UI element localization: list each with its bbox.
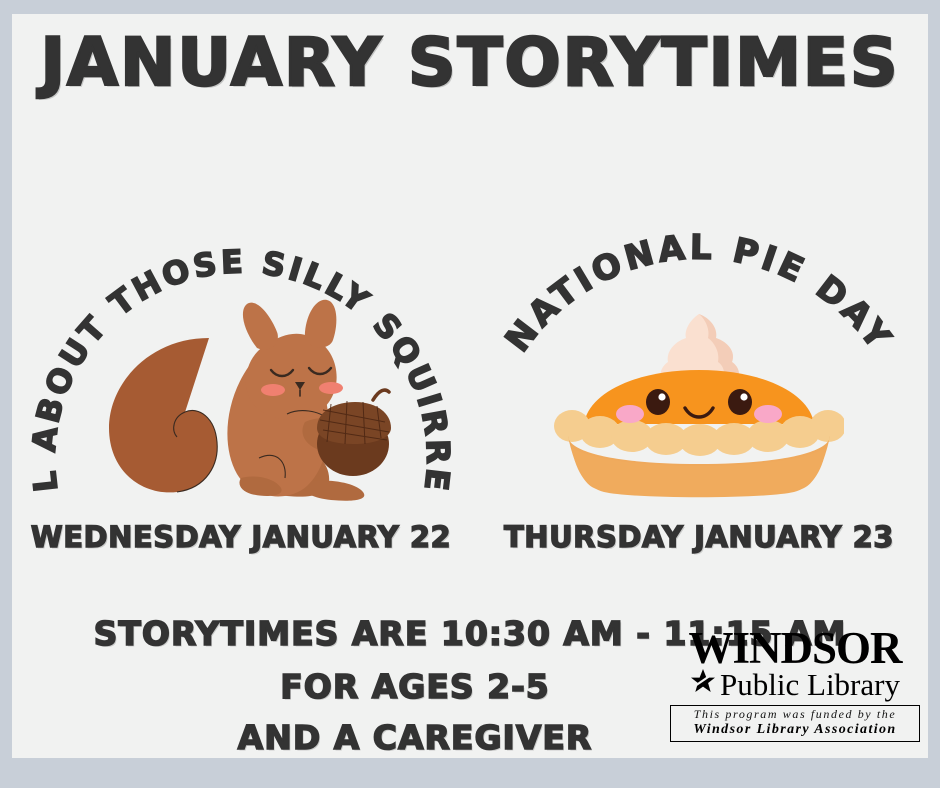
- event-card-squirrels: ALL ABOUT THOSE SILLY SQUIRRELS: [12, 174, 470, 554]
- star-icon: [690, 668, 716, 700]
- poster-canvas: JANUARY STORYTIMES ALL ABOUT THOSE SILLY…: [12, 14, 928, 758]
- funding-line-2: Windsor Library Association: [675, 722, 915, 738]
- funding-notice: This program was funded by the Windsor L…: [670, 705, 920, 742]
- events-row: ALL ABOUT THOSE SILLY SQUIRRELS: [12, 174, 928, 554]
- event-date-pie: THURSDAY JANUARY 23: [470, 520, 928, 554]
- library-logo: WINDSOR Public Library This program was …: [670, 627, 920, 742]
- page-title: JANUARY STORYTIMES: [12, 24, 928, 101]
- event-date-squirrels: WEDNESDAY JANUARY 22: [12, 520, 470, 554]
- squirrel-illustration: [12, 296, 470, 506]
- logo-wordmark: WINDSOR: [670, 627, 920, 670]
- logo-subtitle-row: Public Library: [670, 668, 920, 700]
- pie-illustration: [470, 296, 928, 506]
- logo-subtitle: Public Library: [720, 669, 900, 700]
- funding-line-1: This program was funded by the: [675, 708, 915, 722]
- event-card-pie: NATIONAL PIE DAY: [470, 174, 928, 554]
